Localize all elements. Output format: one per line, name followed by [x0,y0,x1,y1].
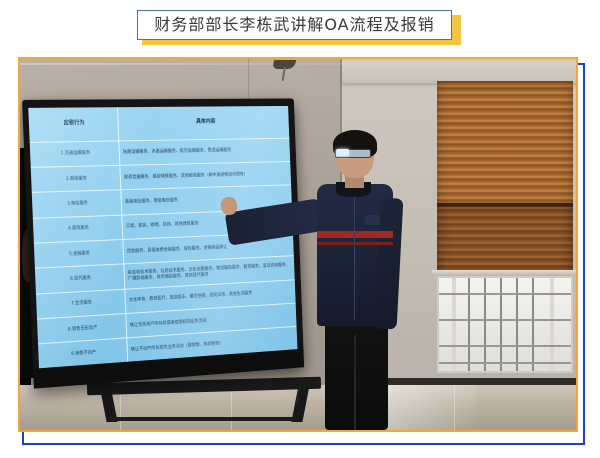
tv-stand-bar [109,417,298,421]
window-blinds-divider [437,203,573,207]
presenter-jacket-zipper [354,190,355,321]
presenter-legs [325,320,389,430]
table-cell-category: 1.交通运输服务 [30,141,120,167]
presenter-jacket-stripe [317,242,392,246]
ceiling-soffit [342,61,576,83]
table-cell-category: 2.邮政服务 [32,166,122,192]
table-header-content: 具体内容 [119,105,290,140]
window-glass [437,276,573,373]
table-cell-category: 5.金融服务 [35,240,125,268]
title-banner-box: 财务部部长李栋武讲解OA流程及报销 [137,10,452,40]
table-header-row: 应税行为 具体内容 [29,105,290,142]
window-blinds-lower [437,203,573,276]
table-cell-category: 4.建筑服务 [34,215,124,242]
table-cell-category: 6.现代服务 [36,265,126,294]
window-bar-h [439,345,571,347]
window-bar-h [439,319,571,321]
photo-frame: 应税行为 具体内容 1.交通运输服务 陆路运输服务、水路运输服务、航空运输服务、… [18,57,578,432]
table-cell-category: 3.电信服务 [33,190,123,217]
page-root: 财务部部长李栋武讲解OA流程及报销 [0,0,600,458]
presenter-jacket-stripe [317,231,392,238]
presenter-leg-split [354,335,356,430]
table-cell-content: 邮政普遍服务、邮政特殊服务、其他邮政服务（邮中速递物流代理等） [121,162,292,190]
table-header-category: 应税行为 [29,107,120,142]
presenter-jacket-patch [365,215,379,225]
page-title: 财务部部长李栋武讲解OA流程及报销 [154,17,434,33]
window-unit [437,81,573,385]
title-banner: 财务部部长李栋武讲解OA流程及报销 [137,10,461,42]
scene-photo: 应税行为 具体内容 1.交通运输服务 陆路运输服务、水路运输服务、航空运输服务、… [20,59,576,430]
table-cell-content: 陆路运输服务、水路运输服务、航空运输服务、管道运输服务 [120,138,291,165]
window-bar-h [439,293,571,295]
presenter-glasses-lens [336,149,349,156]
window-bar-h [439,362,571,364]
presentation-display: 应税行为 具体内容 1.交通运输服务 陆路运输服务、水路运输服务、航空运输服务、… [22,98,304,389]
presenter-figure [281,133,426,430]
